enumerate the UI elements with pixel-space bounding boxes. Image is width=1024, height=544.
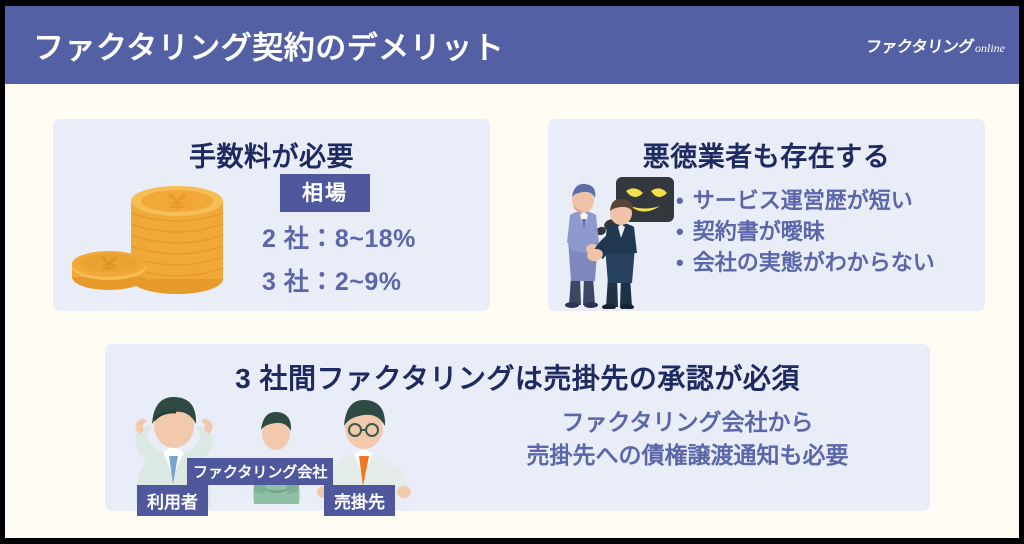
two-businessmen-evil-face-icon — [556, 169, 691, 309]
market-rate-badge: 相場 — [280, 174, 370, 212]
three-people-diagram: ファクタリング会社 利用者 売掛先 — [119, 386, 439, 508]
list-item: 契約書が曖昧 — [676, 216, 935, 247]
bad-operators-bullet-list: サービス運営歴が短い 契約書が曖昧 会社の実態がわからない — [676, 185, 935, 279]
list-item: 会社の実態がわからない — [676, 247, 935, 278]
coin-stack-icon — [65, 167, 245, 297]
tag-payer: 売掛先 — [324, 485, 395, 516]
three-party-note-line: 売掛先への債権譲渡通知も必要 — [460, 439, 915, 472]
rate-line-two-party: 2 社：8~18% — [262, 219, 488, 255]
infographic-canvas: ファクタリング契約のデメリット ファクタリング online 手数料が必要 — [0, 0, 1024, 544]
tag-user: 利用者 — [137, 485, 208, 516]
fee-rates-block: 相場 2 社：8~18% 3 社：2~9% — [258, 174, 488, 298]
brand-logo-main: ファクタリング — [865, 33, 975, 57]
three-party-note-line: ファクタリング会社から — [460, 406, 915, 439]
tag-factoring-company: ファクタリング会社 — [187, 458, 333, 485]
infographic-inner: ファクタリング契約のデメリット ファクタリング online 手数料が必要 — [5, 6, 1019, 538]
card-three-party-factoring: 3 社間ファクタリングは売掛先の承認が必須 — [105, 344, 930, 511]
brand-logo-sub: online — [975, 41, 1005, 56]
page-title: ファクタリング契約のデメリット — [33, 23, 504, 68]
page-header: ファクタリング契約のデメリット ファクタリング online — [5, 6, 1019, 84]
rate-line-three-party: 3 社：2~9% — [262, 262, 488, 298]
card-fee-required: 手数料が必要 — [53, 119, 490, 311]
three-party-note: ファクタリング会社から 売掛先への債権譲渡通知も必要 — [460, 406, 915, 473]
brand-logo: ファクタリング online — [866, 33, 1005, 57]
list-item: サービス運営歴が短い — [676, 185, 935, 216]
card-bad-operators: 悪徳業者も存在する — [548, 119, 985, 311]
